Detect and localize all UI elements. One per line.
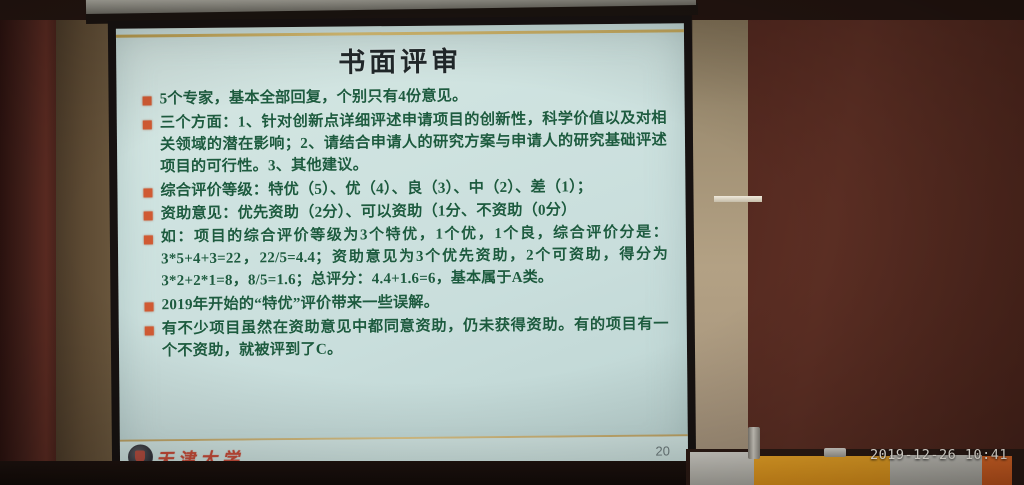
list-item: 5个专家，基本全部回复，个别只有4份意见。: [138, 83, 666, 110]
bullet-text: 三个方面：1、针对创新点详细评述申请项目的创新性，科学价值以及对相关领域的潜在影…: [160, 107, 668, 178]
slide-top-rule: [116, 29, 684, 37]
bullet-text: 资助意见：优先资助（2分）、可以资助（1分、不资助（0分）: [161, 200, 577, 226]
bullet-text: 如：项目的综合评价等级为3个特优，1个优，1个良，综合评价分是：3*5+4+3=…: [161, 223, 669, 293]
bullet-text: 5个专家，基本全部回复，个别只有4份意见。: [159, 85, 467, 110]
bullet-square-icon: [143, 120, 152, 129]
desk-cylinder-object: [748, 427, 760, 459]
left-curtain: [0, 0, 64, 485]
list-item: 如：项目的综合评价等级为3个特优，1个优，1个良，综合评价分是：3*5+4+3=…: [140, 223, 669, 293]
wall-fixture: [714, 196, 762, 202]
projection-screen-frame: 书面评审 5个专家，基本全部回复，个别只有4份意见。 三个方面：1、针对创新点详…: [108, 15, 696, 479]
bullet-square-icon: [145, 326, 154, 335]
list-item: 资助意见：优先资助（2分）、可以资助（1分、不资助（0分）: [140, 199, 668, 226]
bullet-square-icon: [144, 236, 153, 245]
list-item: 有不少项目虽然在资助意见中都同意资助，仍未获得资助。有的项目有一个不资助，就被评…: [141, 313, 669, 362]
list-item: 三个方面：1、针对创新点详细评述申请项目的创新性，科学价值以及对相关领域的潜在影…: [139, 107, 668, 178]
bullet-square-icon: [145, 303, 154, 312]
foreground-shadow-band: [0, 461, 700, 485]
slide-title: 书面评审: [116, 37, 684, 81]
bullet-square-icon: [143, 96, 152, 105]
presentation-slide: 书面评审 5个专家，基本全部回复，个别只有4份意见。 三个方面：1、针对创新点详…: [116, 23, 688, 471]
desk-object-grey-left: [690, 452, 754, 485]
camera-timestamp: 2019-12-26 10:41: [870, 447, 1008, 463]
bullet-square-icon: [143, 188, 152, 197]
list-item: 2019年开始的“特优”评价带来一些误解。: [140, 290, 668, 317]
slide-page-number: 20: [655, 443, 670, 458]
list-item: 综合评价等级：特优（5）、优（4）、良（3）、中（2）、差（1）；: [139, 175, 667, 202]
bullet-square-icon: [144, 212, 153, 221]
bullet-text: 有不少项目虽然在资助意见中都同意资助，仍未获得资助。有的项目有一个不资助，就被评…: [162, 313, 669, 362]
bullet-text: 2019年开始的“特优”评价带来一些误解。: [161, 292, 439, 317]
lecture-room-photo: 书面评审 5个专家，基本全部回复，个别只有4份意见。 三个方面：1、针对创新点详…: [0, 0, 1024, 485]
desk-small-cap-object: [824, 448, 846, 457]
bullet-text: 综合评价等级：特优（5）、优（4）、良（3）、中（2）、差（1）；: [160, 176, 592, 202]
right-wall: [744, 0, 1024, 485]
slide-body: 5个专家，基本全部回复，个别只有4份意见。 三个方面：1、针对创新点详细评述申请…: [138, 83, 669, 364]
